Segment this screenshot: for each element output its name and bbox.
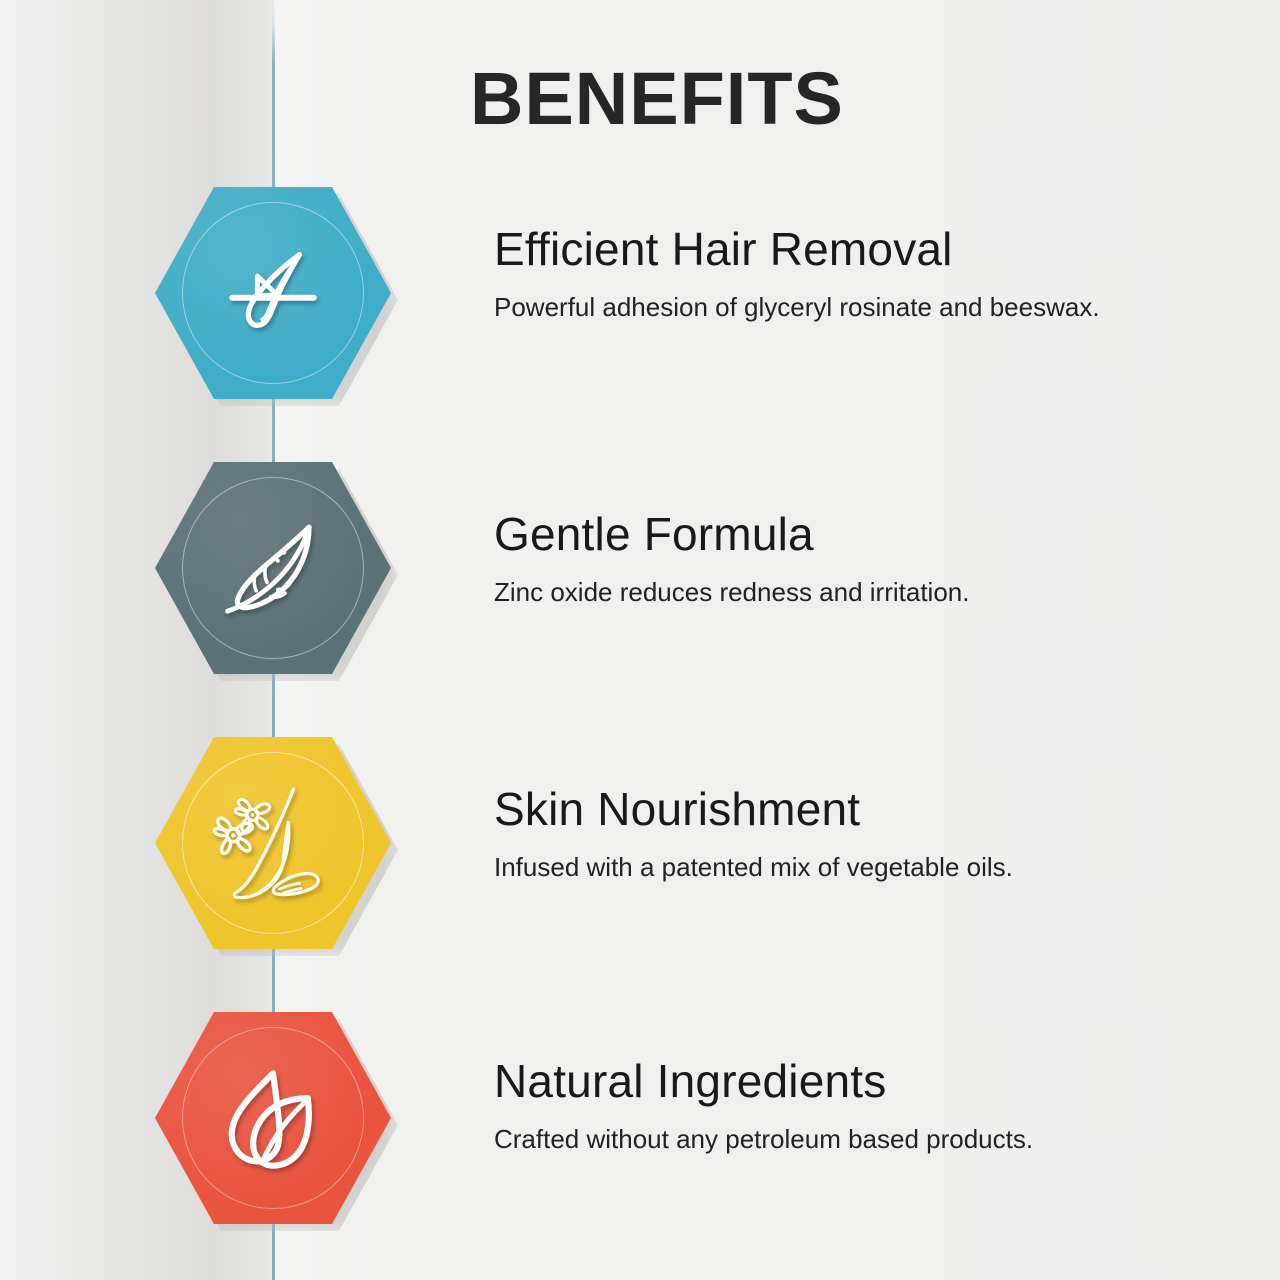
benefit-description: Zinc oxide reduces redness and irritatio… [494, 575, 1154, 610]
benefit-text-block: Gentle Formula Zinc oxide reduces rednes… [494, 510, 1234, 610]
benefit-description: Crafted without any petroleum based prod… [494, 1122, 1154, 1157]
two-leaves-icon [211, 1056, 335, 1180]
benefit-badge-natural-ingredients [155, 1012, 391, 1224]
benefit-badge-skin-nourishment [155, 737, 391, 949]
feather-icon [213, 508, 333, 628]
benefit-text-block: Skin Nourishment Infused with a patented… [494, 785, 1234, 885]
benefit-description: Powerful adhesion of glyceryl rosinate a… [494, 290, 1154, 325]
benefit-title: Skin Nourishment [494, 785, 1234, 833]
benefit-description: Infused with a patented mix of vegetable… [494, 850, 1154, 885]
leg-flowers-hand-icon [209, 779, 337, 907]
benefits-infographic: BENEFITS Efficient Hair Removal Powerful… [0, 0, 1280, 1280]
benefit-text-block: Natural Ingredients Crafted without any … [494, 1057, 1234, 1157]
benefit-title: Natural Ingredients [494, 1057, 1234, 1105]
benefit-title: Efficient Hair Removal [494, 225, 1234, 273]
benefit-badge-gentle-formula [155, 462, 391, 674]
page-title: BENEFITS [470, 62, 844, 136]
benefit-title: Gentle Formula [494, 510, 1234, 558]
hair-follicle-icon [213, 233, 333, 353]
benefit-text-block: Efficient Hair Removal Powerful adhesion… [494, 225, 1234, 325]
benefit-badge-hair-removal [155, 187, 391, 399]
